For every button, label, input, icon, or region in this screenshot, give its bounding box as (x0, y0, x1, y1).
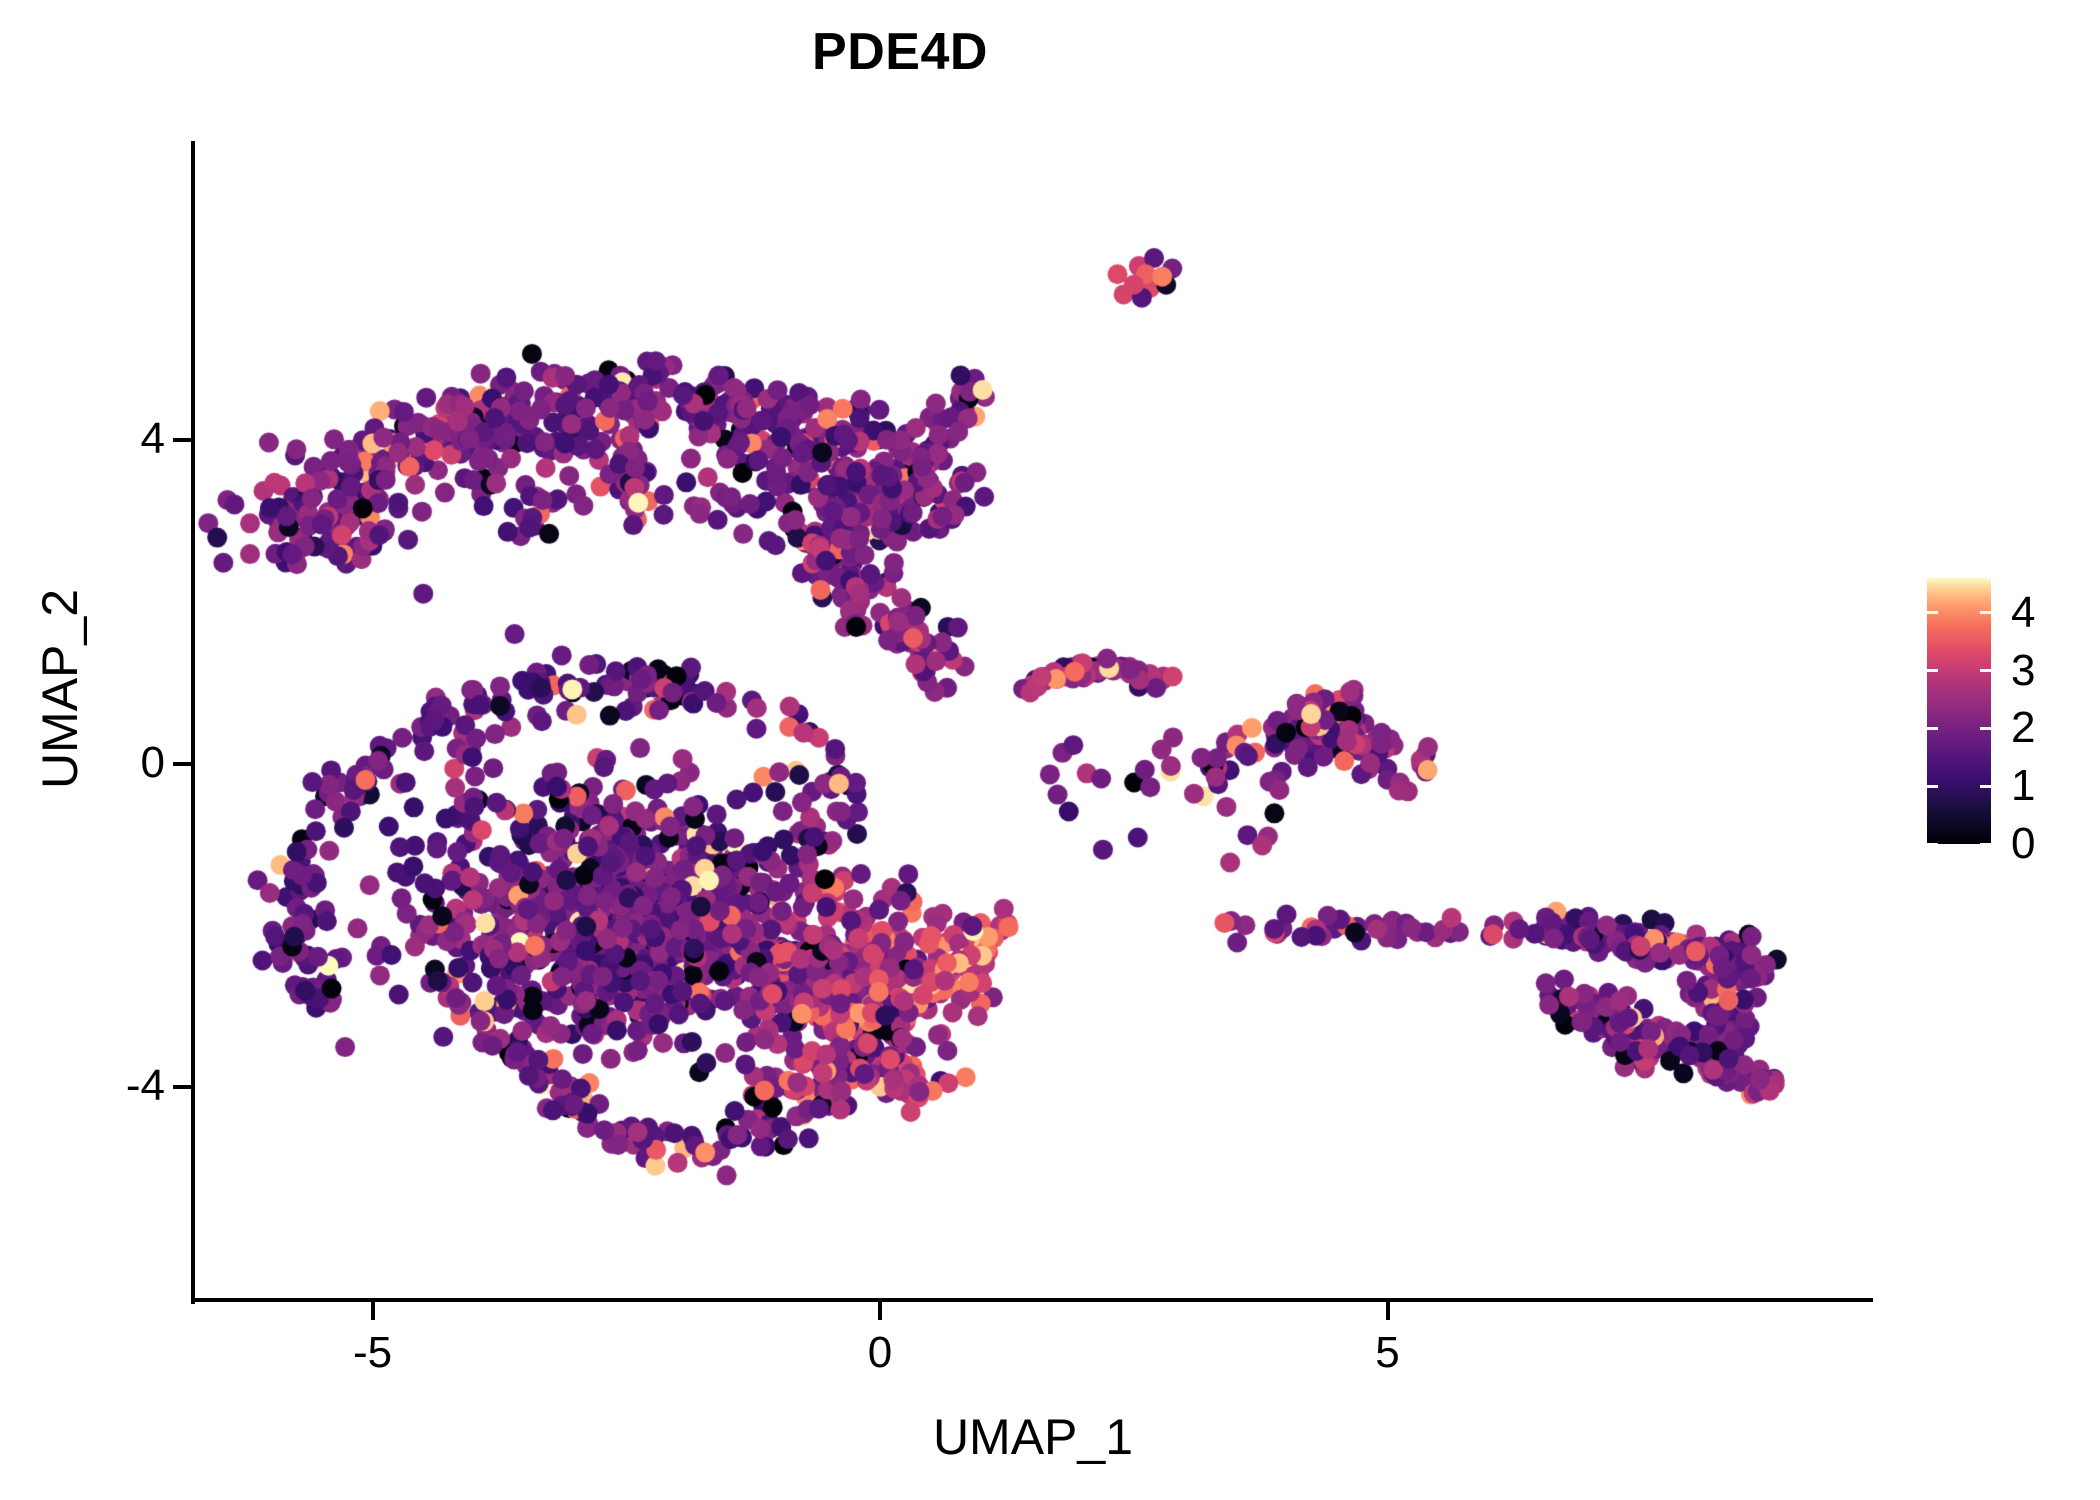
x-tick-label: 0 (800, 1328, 960, 1378)
colorbar-tick-mark (1927, 843, 1938, 846)
y-axis-title: UMAP_2 (31, 329, 89, 1049)
colorbar-tick-mark (1980, 669, 1991, 672)
scatter-points-layer (195, 141, 1871, 1300)
colorbar-tick-label: 4 (2011, 591, 2035, 635)
x-tick-label: 5 (1308, 1328, 1468, 1378)
colorbar-tick-mark (1927, 785, 1938, 788)
colorbar-tick-mark (1980, 843, 1991, 846)
y-axis-line (191, 141, 195, 1304)
y-tick-mark (173, 762, 191, 766)
x-tick-label: -5 (293, 1328, 453, 1378)
x-tick-mark (878, 1302, 882, 1320)
colorbar-tick-mark (1980, 727, 1991, 730)
y-tick-mark (173, 1085, 191, 1089)
scatter-plot-panel (195, 141, 1871, 1300)
colorbar-tick-mark (1980, 785, 1991, 788)
y-tick-label: -4 (20, 1061, 165, 1111)
colorbar-tick-mark (1980, 611, 1991, 614)
x-tick-mark (371, 1302, 375, 1320)
colorbar-tick-mark (1927, 611, 1938, 614)
x-axis-line (193, 1298, 1873, 1302)
feature-plot-figure: PDE4D -404 -505 UMAP_1 UMAP_2 01234 (0, 0, 2100, 1500)
color-legend: 01234 (1927, 578, 2087, 878)
colorbar-tick-label: 3 (2011, 649, 2035, 693)
colorbar-tick-mark (1927, 727, 1938, 730)
page-title: PDE4D (0, 22, 1800, 82)
x-tick-mark (1386, 1302, 1390, 1320)
colorbar-tick-label: 1 (2011, 764, 2035, 808)
y-tick-mark (173, 438, 191, 442)
colorbar-tick-mark (1927, 669, 1938, 672)
colorbar-tick-label: 0 (2011, 822, 2035, 866)
colorbar-gradient (1927, 578, 1991, 844)
x-axis-title: UMAP_1 (195, 1408, 1871, 1466)
colorbar-tick-label: 2 (2011, 706, 2035, 750)
